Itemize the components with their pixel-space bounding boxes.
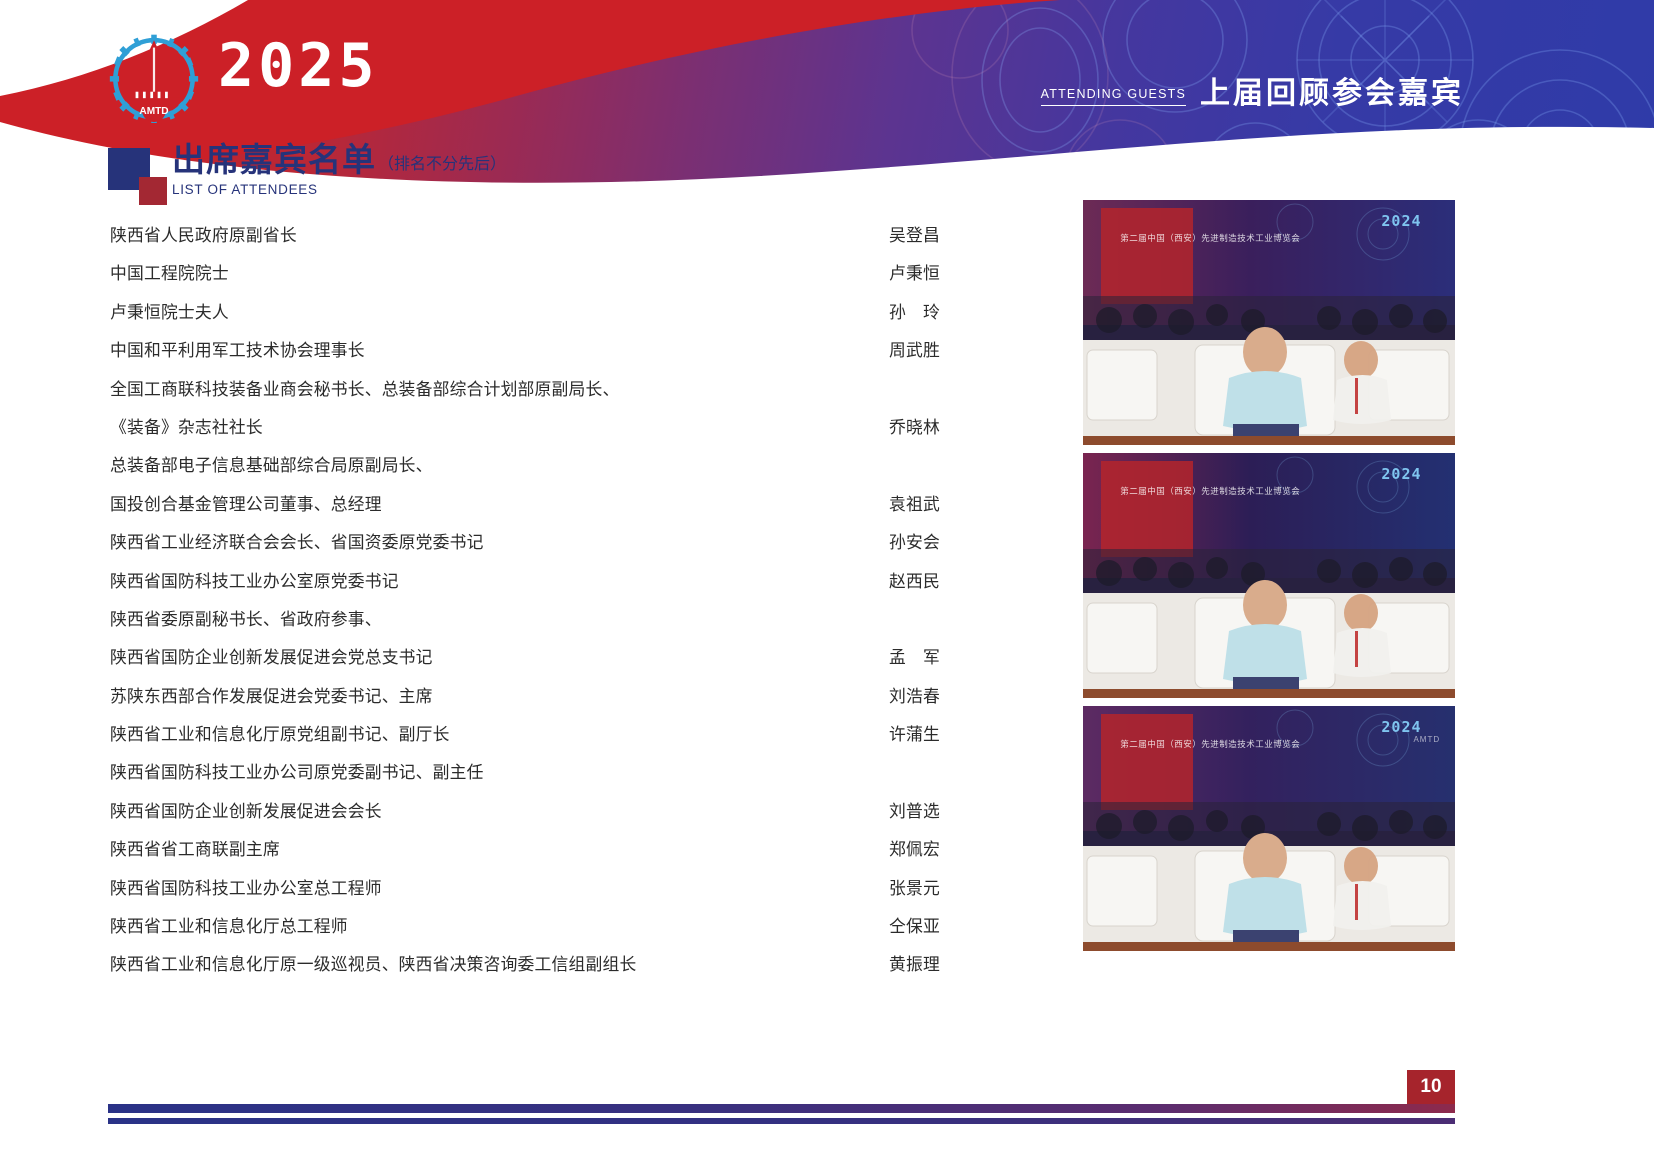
- attendee-row: 陕西省工业和信息化厅原党组副书记、副厅长许蒲生: [110, 721, 940, 759]
- attendee-row: 陕西省国防科技工业办公室原党委书记赵西民: [110, 568, 940, 606]
- attendee-name: 袁祖武: [848, 491, 940, 515]
- photo-year-badge: 2024: [1381, 465, 1421, 483]
- attendee-name: 许蒲生: [848, 721, 940, 745]
- attendee-title: 陕西省委原副秘书长、省政府参事、: [110, 606, 848, 630]
- brochure-page: AMTD 2025 ATTENDING GUESTS 上届回顾参会嘉宾 出席嘉宾…: [0, 0, 1654, 1165]
- attendee-row: 陕西省工业和信息化厅原一级巡视员、陕西省决策咨询委工信组副组长黄振理: [110, 951, 940, 989]
- attendee-name: 张景元: [848, 875, 940, 899]
- footer-accent-bar-top: [108, 1104, 1455, 1113]
- attendee-title: 总装备部电子信息基础部综合局原副局长、: [110, 452, 848, 476]
- photo-year-badge: 2024: [1381, 212, 1421, 230]
- photo-stage-text: 第二届中国（西安）先进制造技术工业博览会: [1120, 738, 1300, 750]
- attendee-title: 国投创合基金管理公司董事、总经理: [110, 491, 848, 515]
- attendee-name: 吴登昌: [848, 222, 940, 246]
- attendee-title: 陕西省国防科技工业办公室总工程师: [110, 875, 848, 899]
- attendee-row: 中国工程院院士卢秉恒: [110, 260, 940, 298]
- attendee-name: 刘普选: [848, 798, 940, 822]
- section-title-block: 出席嘉宾名单 （排名不分先后） LIST OF ATTENDEES: [108, 143, 506, 197]
- page-title-note: （排名不分先后）: [378, 150, 506, 178]
- conference-audience-photo-3: 第二届中国（西安）先进制造技术工业博览会2024AMTD: [1083, 706, 1455, 951]
- attendee-row: 中国和平利用军工技术协会理事长周武胜: [110, 337, 940, 375]
- page-number-badge: 10: [1407, 1070, 1455, 1104]
- attendee-row: 《装备》杂志社社长乔晓林: [110, 414, 940, 452]
- page-footer: 10: [0, 1055, 1654, 1165]
- attendee-title: 陕西省工业和信息化厅原一级巡视员、陕西省决策咨询委工信组副组长: [110, 951, 848, 975]
- attendee-row: 陕西省国防企业创新发展促进会党总支书记孟 军: [110, 644, 940, 682]
- attendee-name: 卢秉恒: [848, 260, 940, 284]
- photo-year-badge: 2024: [1381, 718, 1421, 736]
- header-title-cn: 上届回顾参会嘉宾: [1200, 78, 1464, 110]
- attendee-row: 陕西省国防科技工业办公司原党委副书记、副主任: [110, 759, 940, 797]
- attendee-title: 陕西省人民政府原副省长: [110, 222, 848, 246]
- attendee-row: 国投创合基金管理公司董事、总经理袁祖武: [110, 491, 940, 529]
- attendee-row: 陕西省委原副秘书长、省政府参事、: [110, 606, 940, 644]
- attendee-row: 陕西省工业经济联合会会长、省国资委原党委书记孙安会: [110, 529, 940, 567]
- attendee-name: 赵西民: [848, 568, 940, 592]
- attendee-row: 陕西省省工商联副主席郑佩宏: [110, 836, 940, 874]
- attendee-row: 陕西省人民政府原副省长吴登昌: [110, 222, 940, 260]
- attendee-name: 仝保亚: [848, 913, 940, 937]
- attendee-title: 全国工商联科技装备业商会秘书长、总装备部综合计划部原副局长、: [110, 376, 848, 400]
- photo-amtd-badge: AMTD: [1413, 735, 1440, 744]
- conference-audience-photo-1: 第二届中国（西安）先进制造技术工业博览会2024: [1083, 200, 1455, 445]
- footer-accent-bar-bottom: [108, 1118, 1455, 1124]
- attendee-name: 黄振理: [848, 951, 940, 975]
- attendee-title: 苏陕东西部合作发展促进会党委书记、主席: [110, 683, 848, 707]
- attendee-name: 乔晓林: [848, 414, 940, 438]
- attendee-name: 刘浩春: [848, 683, 940, 707]
- attendee-title: 中国工程院院士: [110, 260, 848, 284]
- header-subtitle-en: ATTENDING GUESTS: [1041, 87, 1186, 101]
- year-label: 2025: [218, 36, 379, 96]
- photo-stage-text: 第二届中国（西安）先进制造技术工业博览会: [1120, 232, 1300, 244]
- attendee-row: 陕西省工业和信息化厅总工程师仝保亚: [110, 913, 940, 951]
- attendee-title: 《装备》杂志社社长: [110, 414, 848, 438]
- attendee-name: 孙 玲: [848, 299, 940, 323]
- attendee-name: 孟 军: [848, 644, 940, 668]
- amtd-logo-icon: AMTD: [108, 31, 200, 123]
- attendee-name: 孙安会: [848, 529, 940, 553]
- attendee-row: 卢秉恒院士夫人孙 玲: [110, 299, 940, 337]
- attendee-title: 中国和平利用军工技术协会理事长: [110, 337, 848, 361]
- attendee-row: 陕西省国防企业创新发展促进会会长刘普选: [110, 798, 940, 836]
- attendee-row: 总装备部电子信息基础部综合局原副局长、: [110, 452, 940, 490]
- header-title-group: ATTENDING GUESTS 上届回顾参会嘉宾: [1041, 78, 1464, 110]
- page-title-en: LIST OF ATTENDEES: [172, 182, 506, 197]
- attendee-title: 陕西省工业经济联合会会长、省国资委原党委书记: [110, 529, 848, 553]
- attendee-title: 陕西省工业和信息化厅原党组副书记、副厅长: [110, 721, 848, 745]
- attendee-title: 陕西省国防科技工业办公室原党委书记: [110, 568, 848, 592]
- decorative-red-square: [139, 177, 167, 205]
- attendee-name: 周武胜: [848, 337, 940, 361]
- attendee-row: 陕西省国防科技工业办公室总工程师张景元: [110, 875, 940, 913]
- attendee-name: 郑佩宏: [848, 836, 940, 860]
- attendee-title: 陕西省国防企业创新发展促进会党总支书记: [110, 644, 848, 668]
- page-title: 出席嘉宾名单: [172, 143, 376, 178]
- attendee-title: 陕西省国防科技工业办公司原党委副书记、副主任: [110, 759, 848, 783]
- attendee-row: 苏陕东西部合作发展促进会党委书记、主席刘浩春: [110, 683, 940, 721]
- attendee-row: 全国工商联科技装备业商会秘书长、总装备部综合计划部原副局长、: [110, 376, 940, 414]
- logo-wordmark: AMTD: [139, 106, 168, 117]
- attendee-title: 陕西省工业和信息化厅总工程师: [110, 913, 848, 937]
- photo-gallery: 第二届中国（西安）先进制造技术工业博览会2024第二届中国（西安）先进制造技术工…: [1083, 200, 1455, 951]
- conference-audience-photo-2: 第二届中国（西安）先进制造技术工业博览会2024: [1083, 453, 1455, 698]
- header-rule: [1041, 105, 1186, 106]
- photo-stage-text: 第二届中国（西安）先进制造技术工业博览会: [1120, 485, 1300, 497]
- attendee-title: 陕西省省工商联副主席: [110, 836, 848, 860]
- attendee-title: 陕西省国防企业创新发展促进会会长: [110, 798, 848, 822]
- attendee-title: 卢秉恒院士夫人: [110, 299, 848, 323]
- attendee-list: 陕西省人民政府原副省长吴登昌中国工程院院士卢秉恒卢秉恒院士夫人孙 玲中国和平利用…: [110, 222, 940, 990]
